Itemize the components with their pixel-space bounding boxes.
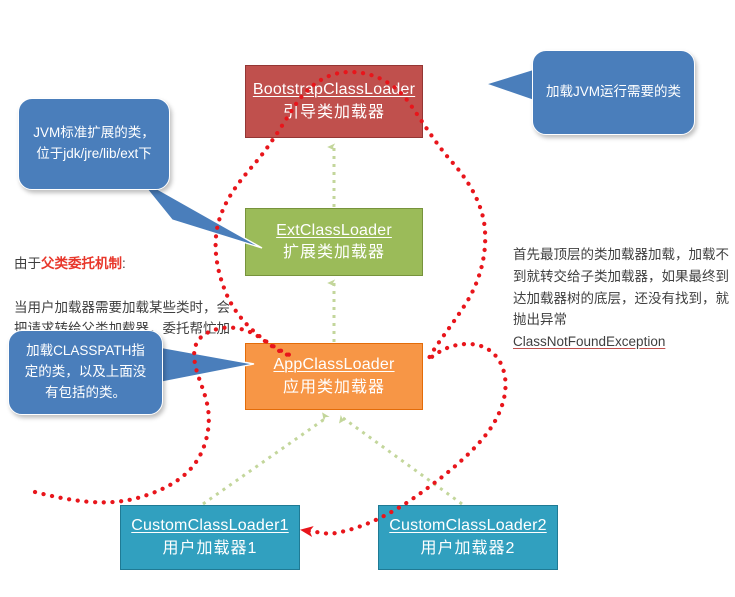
note-topdown-lookup: 首先最顶层的类加载器加载，加载不到就转交给子类加载器，如果最终到达加载器树的底层… <box>513 222 735 353</box>
note-delegate-highlight: 父类委托机制 <box>41 256 122 271</box>
loader-label-en: ExtClassLoader <box>276 221 392 241</box>
loader-box-bootstrap[interactable]: BootstrapClassLoader 引导类加载器 <box>245 65 423 138</box>
loader-box-custom1[interactable]: CustomClassLoader1 用户加载器1 <box>120 505 300 570</box>
callout-jvm-run[interactable]: 加载JVM运行需要的类 <box>532 50 695 135</box>
loader-label-cn: 应用类加载器 <box>283 378 385 398</box>
note-topdown-exception: ClassNotFoundException <box>513 334 665 349</box>
loader-label-cn: 用户加载器2 <box>421 539 516 559</box>
callout-ext-line1: JVM标准扩展的类， <box>33 125 155 140</box>
callout-ext-text: JVM标准扩展的类， 位于jdk/jre/lib/ext下 <box>33 123 155 165</box>
loader-label-cn: 引导类加载器 <box>283 103 385 123</box>
note-delegate-lead: 由于 <box>14 256 41 271</box>
note-topdown-body: 首先最顶层的类加载器加载，加载不到就转交给子类加载器，如果最终到达加载器树的底层… <box>513 247 729 328</box>
loader-box-ext[interactable]: ExtClassLoader 扩展类加载器 <box>245 208 423 276</box>
diagram-canvas: BootstrapClassLoader 引导类加载器 ExtClassLoad… <box>0 0 735 597</box>
callout-ext-description[interactable]: JVM标准扩展的类， 位于jdk/jre/lib/ext下 <box>18 98 170 190</box>
callout-classpath-description[interactable]: 加载CLASSPATH指定的类，以及上面没有包括的类。 <box>8 330 163 415</box>
loader-label-cn: 用户加载器1 <box>163 539 258 559</box>
loader-box-app[interactable]: AppClassLoader 应用类加载器 <box>245 343 423 410</box>
callout-classpath-text: 加载CLASSPATH指定的类，以及上面没有包括的类。 <box>21 341 150 404</box>
loader-label-cn: 扩展类加载器 <box>283 243 385 263</box>
callout-ext-line2: 位于jdk/jre/lib/ext下 <box>36 146 152 161</box>
arrow-custom1-to-app <box>203 418 326 504</box>
loader-box-custom2[interactable]: CustomClassLoader2 用户加载器2 <box>378 505 558 570</box>
loader-label-en: CustomClassLoader1 <box>131 516 288 536</box>
loader-label-en: CustomClassLoader2 <box>389 516 546 536</box>
loader-label-en: BootstrapClassLoader <box>253 80 415 100</box>
callout-jvm-run-text: 加载JVM运行需要的类 <box>546 82 681 103</box>
note-delegate-colon: : <box>122 256 126 271</box>
loader-label-en: AppClassLoader <box>273 355 394 375</box>
arrow-custom2-to-app <box>343 418 462 504</box>
